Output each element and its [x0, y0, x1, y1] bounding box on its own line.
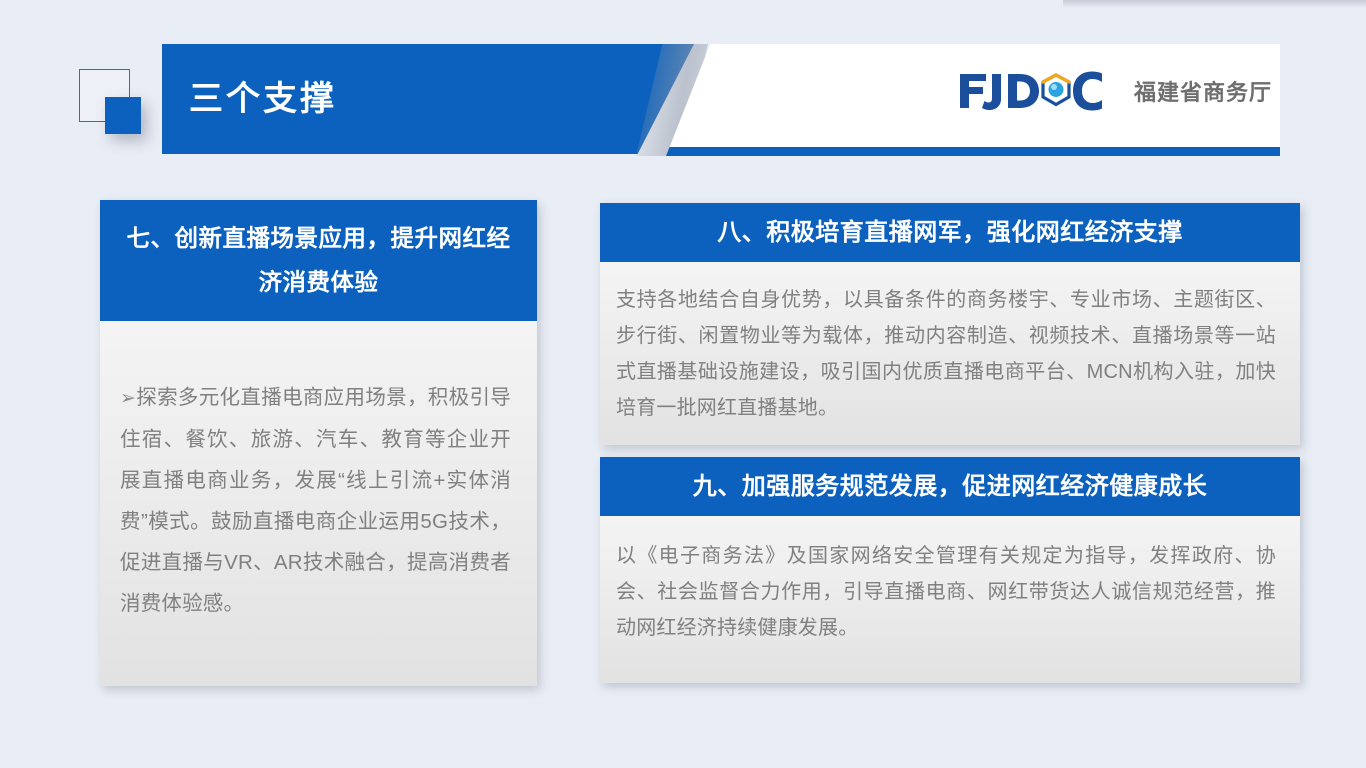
card-section-eight: 八、积极培育直播网军，强化网红经济支撑 支持各地结合自身优势，以具备条件的商务楼…: [600, 203, 1300, 445]
card-section-seven: 七、创新直播场景应用，提升网红经济消费体验 ➢探索多元化直播电商应用场景，积极引…: [100, 200, 537, 686]
card-nine-paragraph: 以《电子商务法》及国家网络安全管理有关规定为指导，发挥政府、协会、社会监督合力作…: [616, 538, 1276, 646]
brand-logo-group: 福建省商务厅: [956, 68, 1272, 114]
slide-header: 三个支撑: [0, 44, 1366, 156]
card-seven-body: ➢探索多元化直播电商应用场景，积极引导住宿、餐饮、旅游、汽车、教育等企业开展直播…: [100, 321, 537, 686]
top-shadow-band: [1063, 0, 1366, 8]
header-white-panel: 福建省商务厅: [666, 44, 1280, 156]
slide-canvas: 三个支撑: [0, 0, 1366, 768]
card-eight-body: 支持各地结合自身优势，以具备条件的商务楼宇、专业市场、主题街区、步行街、闲置物业…: [600, 262, 1300, 445]
bullet-arrow-icon: ➢: [120, 388, 136, 409]
card-nine-body: 以《电子商务法》及国家网络安全管理有关规定为指导，发挥政府、协会、社会监督合力作…: [600, 516, 1300, 683]
fjdoc-hexagon-logo: [956, 68, 1108, 114]
card-seven-title: 七、创新直播场景应用，提升网红经济消费体验: [100, 200, 537, 321]
card-eight-paragraph: 支持各地结合自身优势，以具备条件的商务楼宇、专业市场、主题街区、步行街、闲置物业…: [616, 282, 1276, 426]
header-accent-bar: [666, 147, 1280, 156]
card-nine-title: 九、加强服务规范发展，促进网红经济健康成长: [600, 457, 1300, 516]
card-seven-paragraph: 探索多元化直播电商应用场景，积极引导住宿、餐饮、旅游、汽车、教育等企业开展直播电…: [120, 386, 511, 615]
decorative-filled-square: [105, 97, 141, 134]
page-title: 三个支撑: [189, 82, 337, 116]
card-seven-body-text: ➢探索多元化直播电商应用场景，积极引导住宿、餐饮、旅游、汽车、教育等企业开展直播…: [120, 377, 511, 624]
card-eight-title: 八、积极培育直播网军，强化网红经济支撑: [600, 203, 1300, 262]
header-blue-banner: 三个支撑: [162, 44, 694, 154]
organization-name: 福建省商务厅: [1134, 75, 1272, 107]
card-section-nine: 九、加强服务规范发展，促进网红经济健康成长 以《电子商务法》及国家网络安全管理有…: [600, 457, 1300, 683]
